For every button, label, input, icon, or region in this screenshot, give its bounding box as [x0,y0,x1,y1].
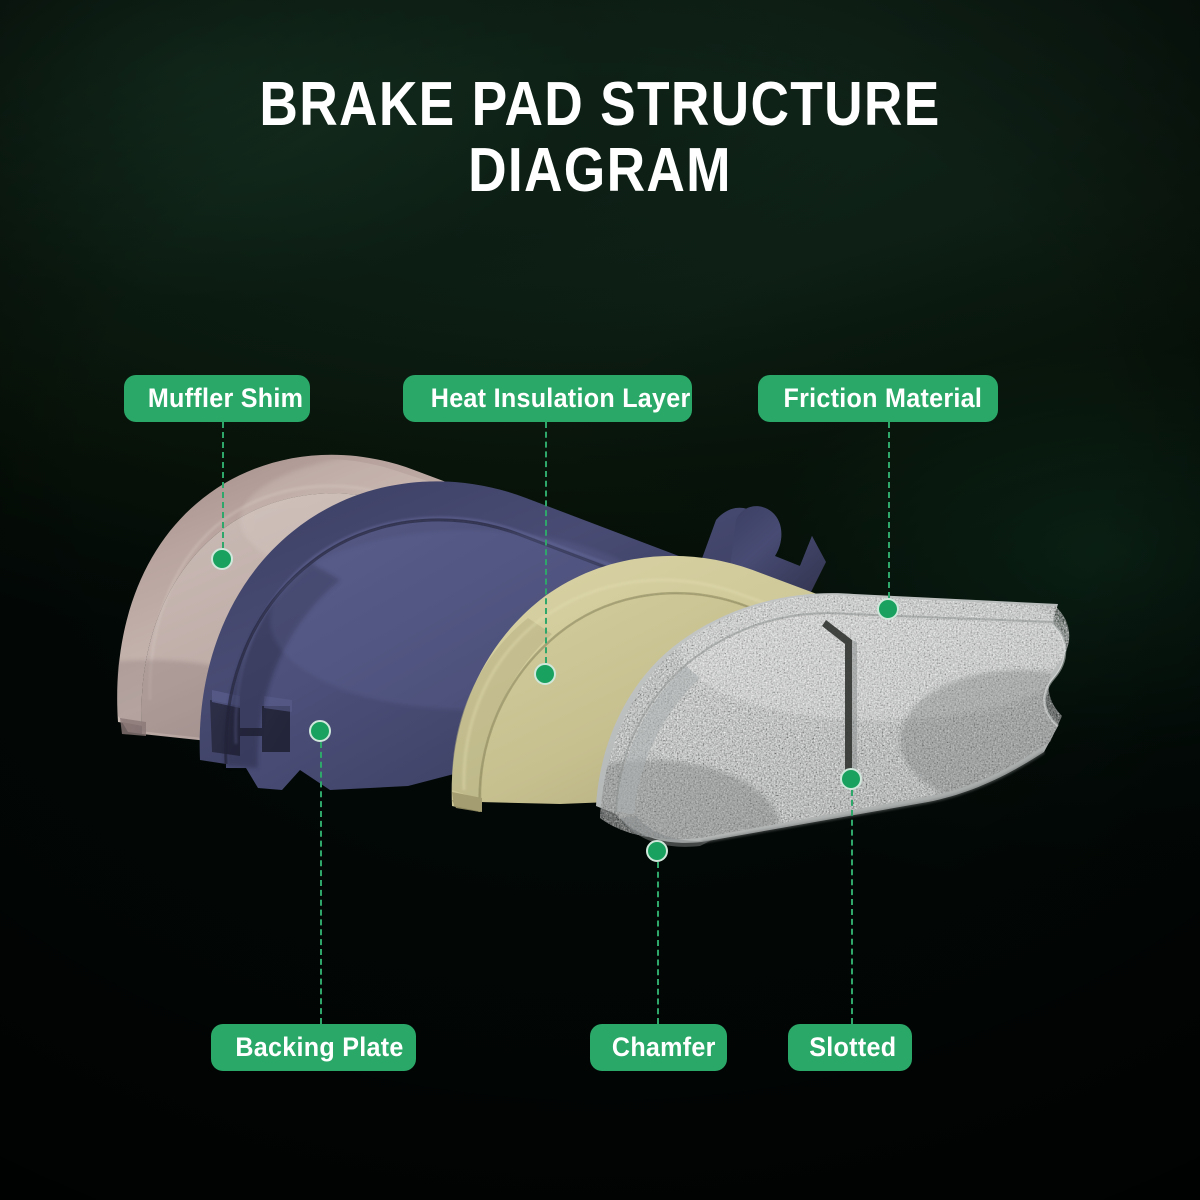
marker-dot-backing-plate[interactable] [309,720,331,742]
callout-label-chamfer[interactable]: Chamfer [590,1024,727,1071]
leader-line-friction-material [888,422,890,598]
callout-label-heat-insulation-layer[interactable]: Heat Insulation Layer [403,375,692,422]
leader-line-slotted [851,790,853,1024]
callout-label-text-muffler-shim: Muffler Shim [148,375,303,422]
marker-dot-muffler-shim[interactable] [211,548,233,570]
callout-label-text-slotted: Slotted [809,1024,896,1071]
leader-line-chamfer [657,862,659,1024]
callout-label-text-backing-plate: Backing Plate [235,1024,403,1071]
callout-label-slotted[interactable]: Slotted [788,1024,912,1071]
callout-label-text-friction-material: Friction Material [783,375,982,422]
callout-label-text-heat-insulation-layer: Heat Insulation Layer [431,375,691,422]
title-line-1: BRAKE PAD STRUCTURE [84,72,1116,138]
callout-label-backing-plate[interactable]: Backing Plate [211,1024,416,1071]
marker-dot-friction-material[interactable] [877,598,899,620]
diagram-canvas: BRAKE PAD STRUCTURE DIAGRAM Muffler Shim… [0,0,1200,1200]
leader-line-muffler-shim [222,422,224,548]
marker-dot-heat-insulation-layer[interactable] [534,663,556,685]
title-line-2: DIAGRAM [84,138,1116,204]
page-title: BRAKE PAD STRUCTURE DIAGRAM [0,72,1200,204]
callout-label-text-chamfer: Chamfer [612,1024,716,1071]
leader-line-heat-insulation-layer [545,422,547,663]
marker-dot-chamfer[interactable] [646,840,668,862]
callout-label-friction-material[interactable]: Friction Material [758,375,998,422]
callout-label-muffler-shim[interactable]: Muffler Shim [124,375,310,422]
leader-line-backing-plate [320,742,322,1024]
marker-dot-slotted[interactable] [840,768,862,790]
